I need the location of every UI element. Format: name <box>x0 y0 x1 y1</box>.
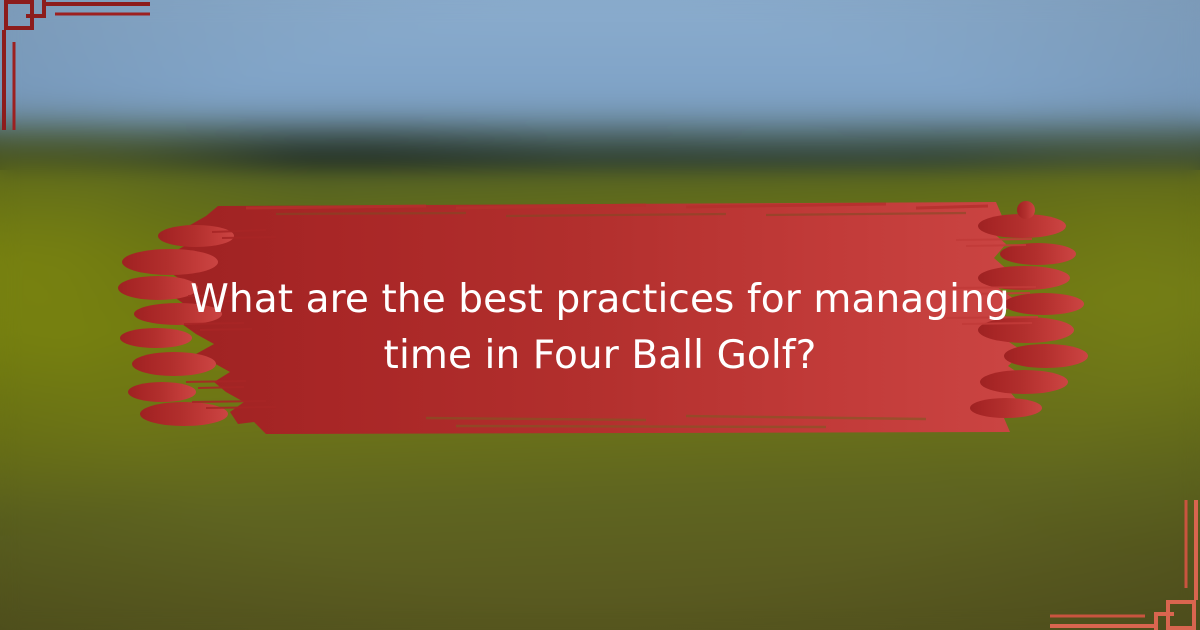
page-title: What are the best practices for managing… <box>0 272 1200 384</box>
share-card-canvas: What are the best practices for managing… <box>0 0 1200 630</box>
